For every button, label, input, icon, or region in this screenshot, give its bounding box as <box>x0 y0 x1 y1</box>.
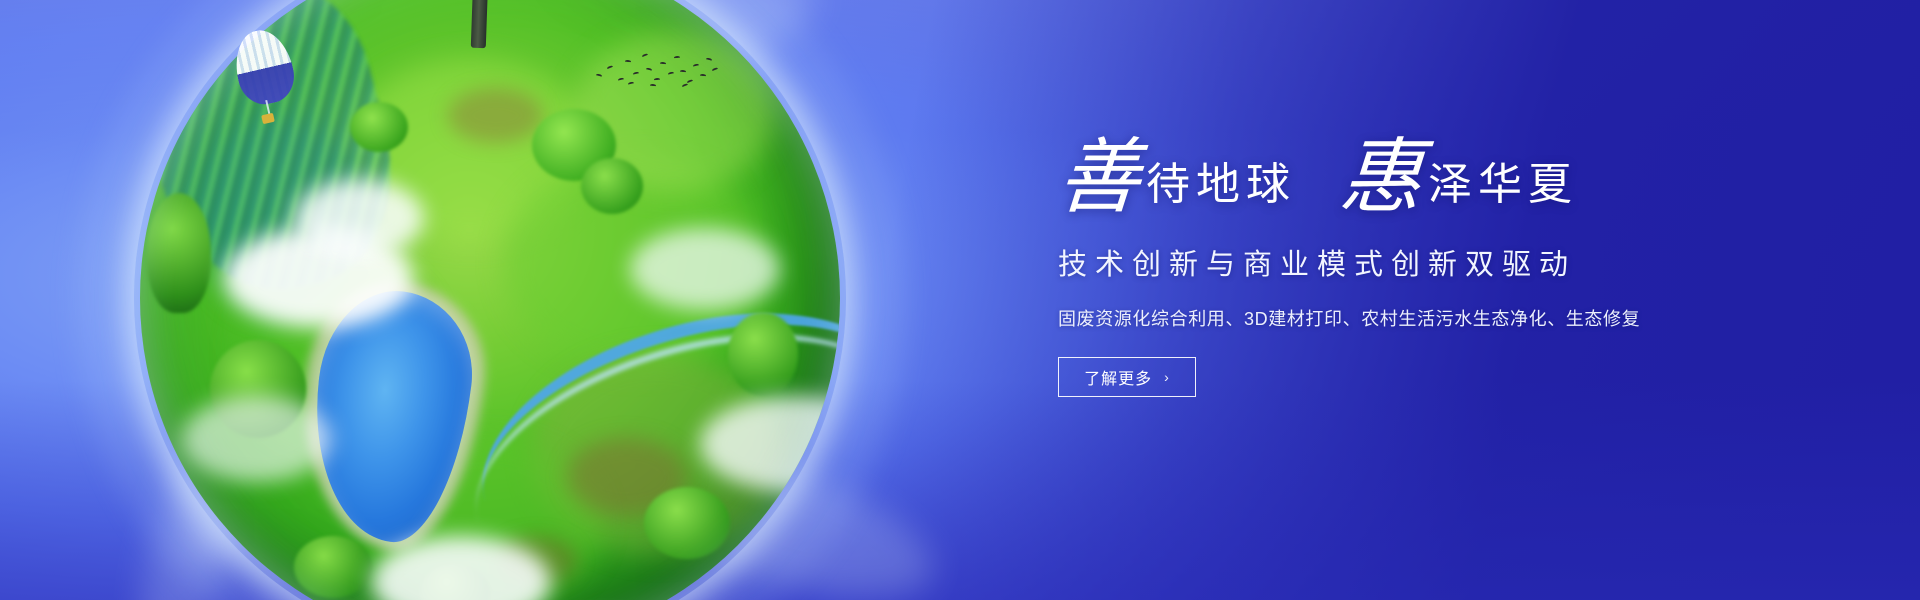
bird-icon <box>628 81 635 85</box>
planet-cloud <box>182 396 332 482</box>
bird-icon <box>633 71 640 75</box>
bird-icon <box>642 53 649 58</box>
tree-canopy <box>147 193 211 313</box>
headline-text-daidiqiu: 待地球 <box>1146 163 1296 215</box>
planet-cloud <box>630 228 780 310</box>
bird-icon <box>700 74 706 78</box>
bird-icon <box>712 67 719 72</box>
hero-copy: 善 待地球 惠 泽华夏 技术创新与商业模式创新双驱动 固废资源化综合利用、3D建… <box>1058 140 1778 397</box>
tree-canopy <box>350 102 408 152</box>
bird-flock <box>592 48 722 92</box>
hero-description: 固废资源化综合利用、3D建材打印、农村生活污水生态净化、生态修复 <box>1058 305 1778 331</box>
balloon-envelope <box>228 25 299 110</box>
tree-canopy <box>294 536 372 598</box>
balloon-basket <box>261 113 275 124</box>
headline-char-hui: 惠 <box>1337 140 1424 215</box>
bird-icon <box>668 71 675 75</box>
soil-patch <box>448 88 543 143</box>
bird-icon <box>596 73 603 77</box>
learn-more-button[interactable]: 了解更多 › <box>1058 357 1196 397</box>
hero-banner: 善 待地球 惠 泽华夏 技术创新与商业模式创新双驱动 固废资源化综合利用、3D建… <box>0 0 1920 600</box>
bird-icon <box>706 57 713 61</box>
hero-subtitle: 技术创新与商业模式创新双驱动 <box>1058 241 1778 283</box>
tree-canopy <box>728 312 798 396</box>
bird-icon <box>654 78 660 81</box>
bird-icon <box>680 70 686 74</box>
bird-icon <box>650 84 656 88</box>
bird-icon <box>618 77 625 81</box>
bird-icon <box>646 67 653 71</box>
bird-icon <box>674 56 680 59</box>
bird-icon <box>693 63 700 67</box>
headline-text-zehuaxia: 泽华夏 <box>1428 163 1578 215</box>
planet-cloud <box>294 179 424 257</box>
chevron-right-icon: › <box>1164 370 1170 384</box>
tree-canopy <box>644 487 730 559</box>
headline-char-shan: 善 <box>1055 140 1142 215</box>
bird-icon <box>682 83 689 88</box>
bird-icon <box>660 62 666 66</box>
learn-more-label: 了解更多 <box>1084 365 1152 389</box>
hot-air-balloon <box>236 30 292 134</box>
bird-icon <box>607 65 614 70</box>
hero-headline: 善 待地球 惠 泽华夏 <box>1058 140 1778 215</box>
bird-icon <box>625 60 631 64</box>
tree-canopy <box>581 158 643 214</box>
